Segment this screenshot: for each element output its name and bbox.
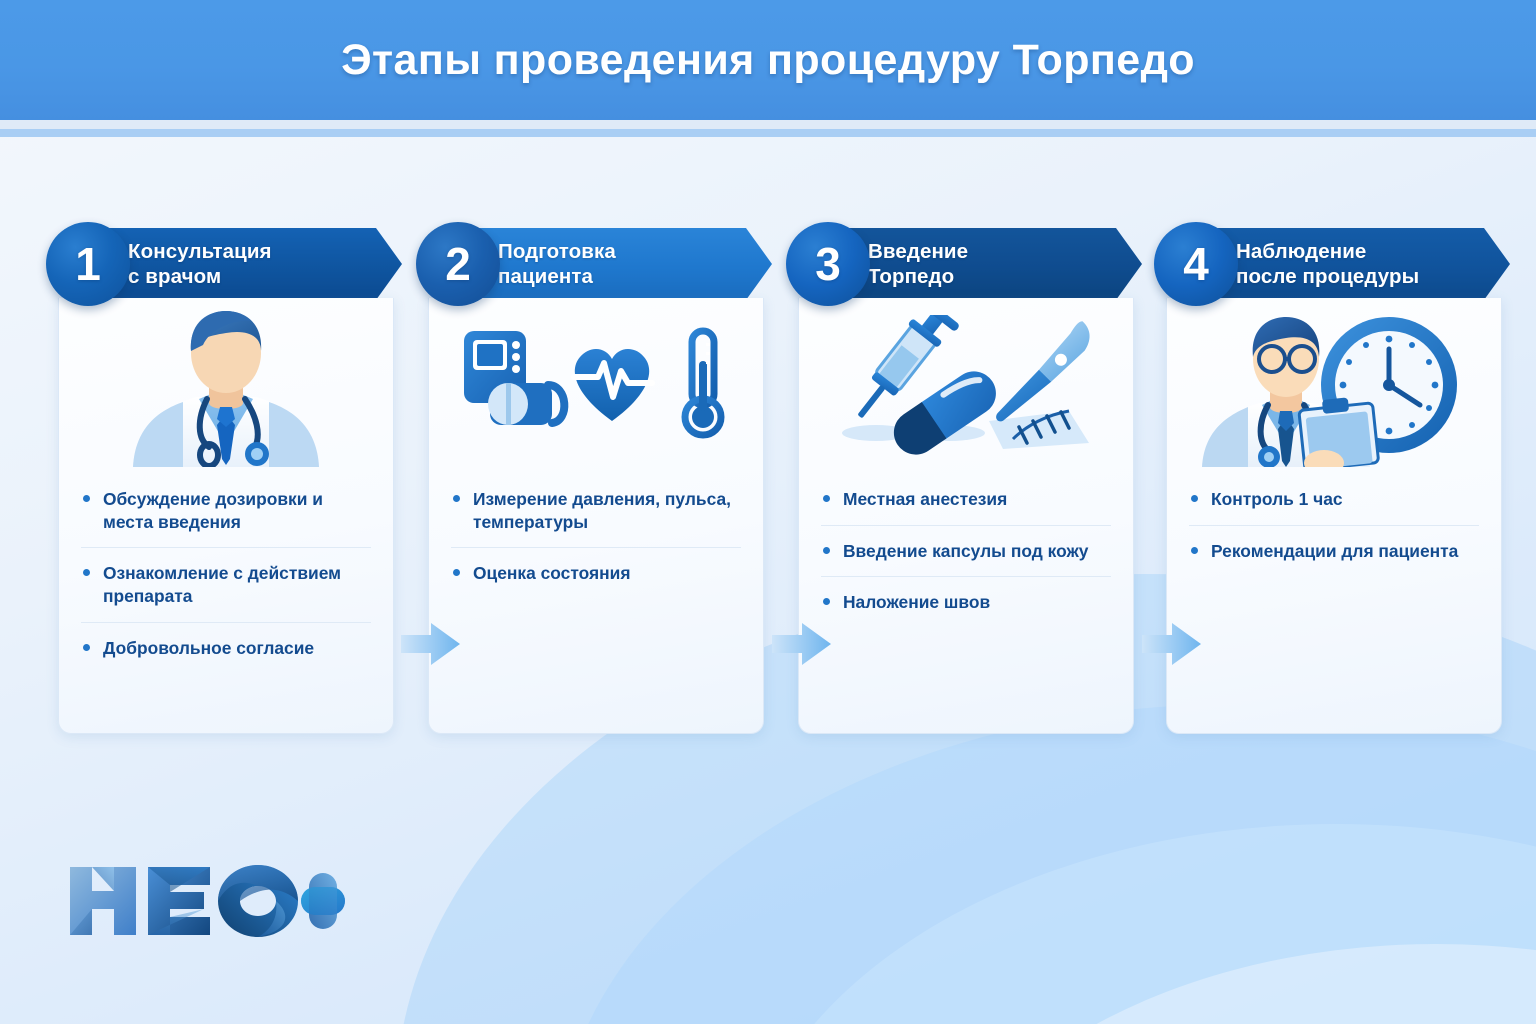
step-card-4[interactable]: Наблюдение после процедуры 4: [1154, 228, 1490, 736]
step-bullets-2: Измерение давления, пульса, температуры …: [451, 470, 741, 599]
steps-container: Консультация с врачом 1: [46, 228, 1490, 740]
list-item: Оценка состояния: [451, 548, 741, 599]
syringe-capsule-scalpel-sutures-icon: [821, 315, 1111, 460]
list-item: Наложение швов: [821, 577, 1111, 628]
neo-plus-logo-icon: [66, 861, 346, 939]
background-arc-inner: [916, 944, 1536, 1024]
page-title: Этапы проведения процедуру Торпедо: [341, 36, 1195, 85]
vitals-monitor-heart-thermometer-icon: [456, 325, 736, 450]
step-number-badge-4: 4: [1154, 222, 1238, 306]
doctor-stethoscope-icon: [111, 307, 341, 467]
step-bullets-3: Местная анестезия Введение капсулы под к…: [821, 470, 1111, 628]
list-item: Ознакомление с действием препарата: [81, 548, 371, 622]
title-bar: Этапы проведения процедуру Торпедо: [0, 0, 1536, 120]
list-item: Местная анестезия: [821, 474, 1111, 526]
step-body-4: Контроль 1 час Рекомендации для пациента: [1166, 298, 1502, 734]
list-item: Введение капсулы под кожу: [821, 526, 1111, 578]
step-illustration-4: [1167, 298, 1501, 470]
arrow-step-1-to-2: [401, 622, 461, 666]
list-item: Добровольное согласие: [81, 623, 371, 674]
step-body-1: Обсуждение дозировки и места введения Оз…: [58, 298, 394, 734]
background-arc-mid-outer: [556, 704, 1536, 1024]
step-number-badge-1: 1: [46, 222, 130, 306]
list-item: Обсуждение дозировки и места введения: [81, 474, 371, 548]
step-illustration-2: [429, 298, 763, 470]
arrow-step-3-to-4: [1142, 622, 1202, 666]
title-stripe-accent: [0, 129, 1536, 137]
list-item: Контроль 1 час: [1189, 474, 1479, 526]
step-card-2[interactable]: Подготовка пациента 2: [416, 228, 752, 736]
doctor-clipboard-clock-icon: [1184, 307, 1484, 467]
step-card-1[interactable]: Консультация с врачом 1: [46, 228, 382, 736]
step-card-3[interactable]: Введение Торпедо 3: [786, 228, 1122, 736]
step-body-3: Местная анестезия Введение капсулы под к…: [798, 298, 1134, 734]
step-number-badge-2: 2: [416, 222, 500, 306]
title-stripe-light: [0, 120, 1536, 129]
infographic-page: Этапы проведения процедуру Торпедо Консу…: [0, 0, 1536, 1024]
list-item: Рекомендации для пациента: [1189, 526, 1479, 577]
step-number-badge-3: 3: [786, 222, 870, 306]
arrow-step-2-to-3: [772, 622, 832, 666]
step-bullets-1: Обсуждение дозировки и места введения Оз…: [81, 470, 371, 673]
step-body-2: Измерение давления, пульса, температуры …: [428, 298, 764, 734]
step-illustration-3: [799, 298, 1133, 470]
background-arc-mid-inner: [736, 824, 1536, 1024]
brand-logo[interactable]: НЕО+: [66, 861, 346, 944]
list-item: Измерение давления, пульса, температуры: [451, 474, 741, 548]
step-bullets-4: Контроль 1 час Рекомендации для пациента: [1189, 470, 1479, 576]
step-illustration-1: [59, 298, 393, 470]
